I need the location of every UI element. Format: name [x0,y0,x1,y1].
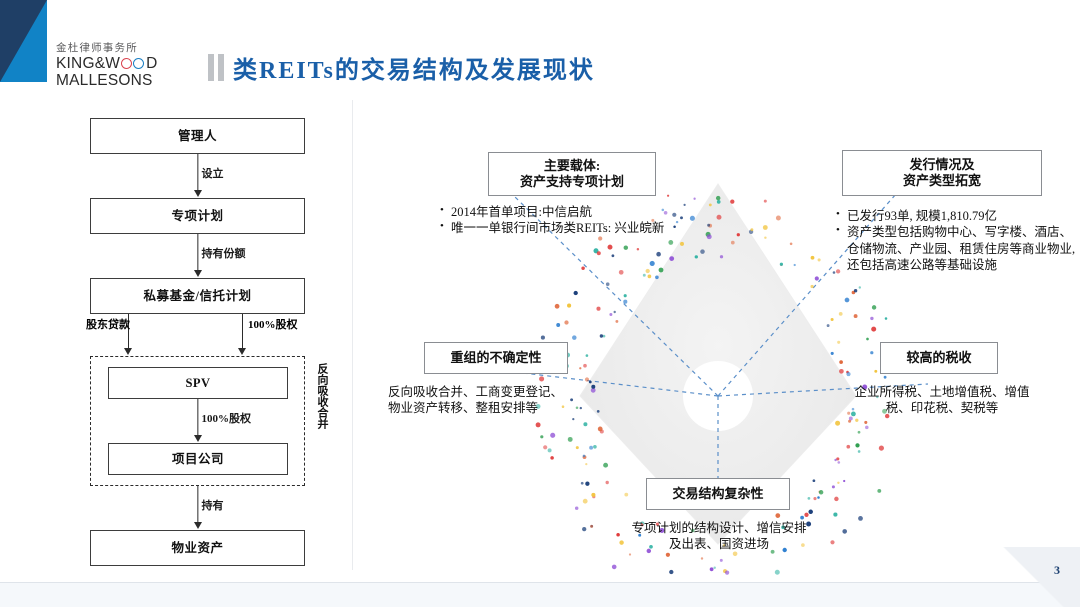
footer-corner-accent [960,547,1080,607]
edge-label: 设立 [202,165,224,181]
flow-node-spv: SPV [108,367,288,399]
edge-line [197,234,198,272]
brand-o-red-icon: O [120,55,134,72]
box-structure-complexity[interactable]: 交易结构复杂性 [646,478,790,510]
box-structure-title: 交易结构复杂性 [672,486,763,502]
flow-edge-establish: 设立 [90,154,305,198]
list-item: 唯一一单银行间市场类REITs: 兴业皖新 [438,220,678,236]
box-high-tax[interactable]: 较高的税收 [880,342,998,374]
arrowhead-left-icon [124,348,132,355]
arrowhead-icon [194,522,202,529]
edge-label: 持有份额 [202,245,246,261]
arrowhead-icon [194,270,202,277]
arrowhead-icon [194,190,202,197]
box-high-tax-body: 企业所得税、土地增值税、增值 税、印花税、契税等 [834,384,1050,417]
body-line: 反向吸收合并、工商变更登记、 [388,384,618,400]
box-restructuring-title: 重组的不确定性 [450,350,541,366]
flow-edge-equity-mid: 100%股权 [91,399,304,443]
box-issuance-title-2: 资产类型拓宽 [903,173,981,189]
edge-label: 持有 [202,497,224,513]
brand-chinese-name: 金杜律师事务所 [56,42,181,55]
flow-edge-hold: 持有 [90,486,305,530]
body-line: 物业资产转移、整租安排等 [388,400,618,416]
arrowhead-right-icon [238,348,246,355]
brand-en-prefix: KING&W [56,55,120,72]
kwm-corner-mark-icon [0,0,47,82]
flow-edge-branch: 股东贷款 100%股权 [90,314,305,356]
reverse-merger-label: 反向吸收合并 [312,363,327,429]
box-issuance-body: 已发行93单, 规模1,810.79亿 资产类型包括购物中心、写字楼、酒店、仓储… [834,208,1080,273]
reverse-merger-region: 反向吸收合并 SPV 100%股权 项目公司 [90,356,305,486]
brand-english-line2: MALLESONS [56,72,181,89]
flow-node-manager: 管理人 [90,118,305,154]
body-line: 企业所得税、土地增值税、增值 [834,384,1050,400]
brand-english-line1: KING&WOOD [56,55,181,72]
box-main-vehicle-title-2: 资产支持专项计划 [520,174,624,190]
box-main-vehicle-title-1: 主要载体: [544,158,600,174]
title-accent-bars-icon [208,54,224,81]
arrowhead-icon [194,435,202,442]
body-line: 及出表、国资进场 [604,536,834,552]
box-main-vehicle[interactable]: 主要载体: 资产支持专项计划 [488,152,656,196]
branch-line-right [242,314,243,350]
edge-label: 100%股权 [202,410,252,426]
list-item: 已发行93单, 规模1,810.79亿 [834,208,1080,224]
flow-node-property-asset: 物业资产 [90,530,305,566]
brand-en-suffix: D [146,55,157,72]
slide-canvas: 金杜律师事务所 KING&WOOD MALLESONS 类REITs的交易结构及… [0,0,1080,607]
box-structure-body: 专项计划的结构设计、增信安排 及出表、国资进场 [604,520,834,553]
edge-line [197,154,198,192]
flow-edge-hold-share: 持有份额 [90,234,305,278]
brand-o-blue-icon: O [134,55,146,72]
corner-mark-dark [0,0,47,82]
box-restructuring-uncertainty[interactable]: 重组的不确定性 [424,342,568,374]
flow-node-fund-trust: 私募基金/信托计划 [90,278,305,314]
flow-node-project-company: 项目公司 [108,443,288,475]
branch-label-right: 100%股权 [248,316,298,332]
transaction-structure-flowchart: 管理人 设立 专项计划 持有份额 私募基金/信托计划 股东贷款 100%股权 反… [90,118,305,566]
flow-node-special-plan: 专项计划 [90,198,305,234]
vertical-divider [352,100,353,570]
footer-band [0,583,1080,607]
edge-line [197,486,198,524]
box-issuance-title-1: 发行情况及 [909,157,974,173]
branch-label-left: 股东贷款 [86,316,130,332]
body-line: 专项计划的结构设计、增信安排 [604,520,834,536]
box-high-tax-title: 较高的税收 [906,350,971,366]
list-item: 2014年首单项目:中信启航 [438,204,678,220]
page-number: 3 [1054,563,1060,578]
body-line: 税、印花税、契税等 [834,400,1050,416]
page-title-text: 类REITs的交易结构及发展现状 [233,50,595,85]
edge-line [197,399,198,437]
box-restructuring-body: 反向吸收合并、工商变更登记、 物业资产转移、整租安排等 [388,384,618,417]
box-main-vehicle-body: 2014年首单项目:中信启航 唯一一单银行间市场类REITs: 兴业皖新 [438,204,678,237]
list-item: 资产类型包括购物中心、写字楼、酒店、仓储物流、产业园、租赁住房等商业物业, 还包… [834,224,1080,273]
reits-overview-diagram: 主要载体: 资产支持专项计划 2014年首单项目:中信启航 唯一一单银行间市场类… [356,96,1080,584]
brand-wordmark: 金杜律师事务所 KING&WOOD MALLESONS [56,42,181,89]
page-title: 类REITs的交易结构及发展现状 [208,50,595,85]
box-issuance-expansion[interactable]: 发行情况及 资产类型拓宽 [842,150,1042,196]
